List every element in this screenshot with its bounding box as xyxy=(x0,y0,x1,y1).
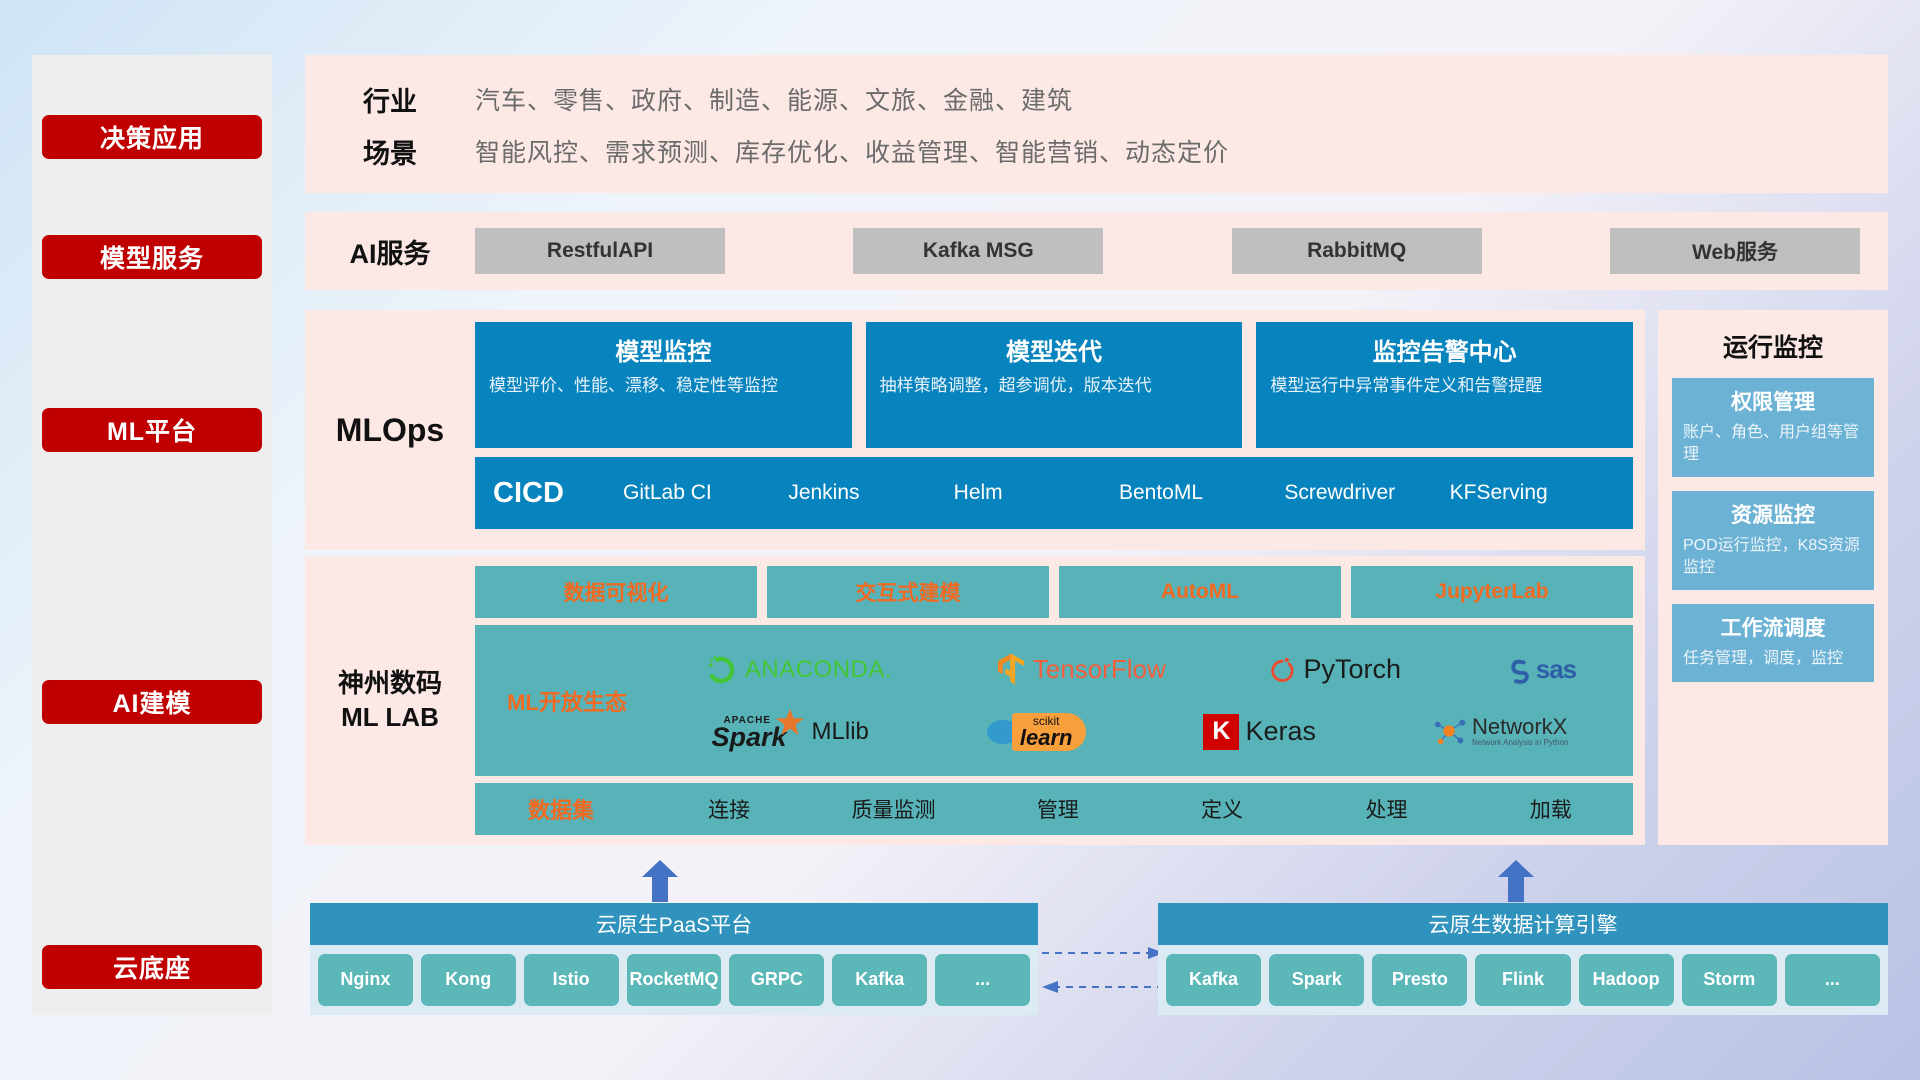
dataset-label: 数据集 xyxy=(475,793,647,825)
cicd-item-gitlab-ci[interactable]: GitLab CI xyxy=(623,481,788,505)
card-title: 监控告警中心 xyxy=(1270,332,1619,367)
networkx-subtitle: Network Analysis in Python xyxy=(1472,738,1569,747)
mlops-card-model-monitoring[interactable]: 模型监控 模型评价、性能、漂移、稳定性等监控 xyxy=(475,322,852,448)
layer-chip-label: 决策应用 xyxy=(100,119,204,155)
sas-logo[interactable]: sas xyxy=(1503,654,1576,685)
mlops-panel: MLOps 模型监控 模型评价、性能、漂移、稳定性等监控 模型迭代 抽样策略调整… xyxy=(305,310,1645,550)
learn-text: learn xyxy=(1020,727,1073,749)
mllib-text: MLlib xyxy=(812,718,869,746)
pytorch-icon xyxy=(1267,653,1297,687)
decision-application-panel: 行业 汽车、零售、政府、制造、能源、文旅、金融、建筑 场景 智能风控、需求预测、… xyxy=(305,55,1888,193)
data-chip-flink[interactable]: Flink xyxy=(1475,954,1570,1006)
networkx-logo-text: NetworkX xyxy=(1472,716,1569,738)
layer-chip-label: ML平台 xyxy=(107,412,197,448)
dataset-bar: 数据集 连接 质量监测 管理 定义 处理 加载 xyxy=(475,783,1633,835)
data-chip-more[interactable]: ... xyxy=(1785,954,1880,1006)
layer-rail xyxy=(32,55,272,1015)
tensorflow-logo[interactable]: TensorFlow xyxy=(994,652,1166,688)
keras-logo[interactable]: K Keras xyxy=(1203,714,1316,750)
layer-chip-ai-modeling[interactable]: AI建模 xyxy=(42,680,262,724)
ml-lab-label-line1: 神州数码 xyxy=(338,667,442,701)
cloud-chip-grpc[interactable]: GRPC xyxy=(729,954,824,1006)
spark-mllib-logo[interactable]: APACHE Spark MLlib xyxy=(711,715,868,749)
mlops-cards: 模型监控 模型评价、性能、漂移、稳定性等监控 模型迭代 抽样策略调整，超参调优，… xyxy=(475,322,1633,448)
cicd-label: CICD xyxy=(493,477,623,510)
card-desc: 抽样策略调整，超参调优，版本迭代 xyxy=(880,375,1229,398)
networkx-icon xyxy=(1433,716,1467,748)
cloud-native-data-engine-group: 云原生数据计算引擎 Kafka Spark Presto Flink Hadoo… xyxy=(1158,903,1888,1015)
service-box-web[interactable]: Web服务 xyxy=(1610,228,1860,274)
service-box-label: Kafka MSG xyxy=(923,239,1034,263)
card-title: 模型迭代 xyxy=(880,332,1229,367)
layer-chip-decision-app[interactable]: 决策应用 xyxy=(42,115,262,159)
cloud-chip-more[interactable]: ... xyxy=(935,954,1030,1006)
data-chip-kafka[interactable]: Kafka xyxy=(1166,954,1261,1006)
cloud-chip-kafka[interactable]: Kafka xyxy=(832,954,927,1006)
ai-service-panel: AI服务 RestfulAPI Kafka MSG RabbitMQ Web服务 xyxy=(305,212,1888,290)
cloud-chip-rocketmq[interactable]: RocketMQ xyxy=(627,954,722,1006)
bidirectional-dashed-connector xyxy=(1040,935,1166,1005)
cloud-chip-nginx[interactable]: Nginx xyxy=(318,954,413,1006)
data-chip-storm[interactable]: Storm xyxy=(1682,954,1777,1006)
data-chip-spark[interactable]: Spark xyxy=(1269,954,1364,1006)
layer-chip-cloud-base[interactable]: 云底座 xyxy=(42,945,262,989)
service-box-label: Web服务 xyxy=(1692,236,1778,266)
service-box-restfulapi[interactable]: RestfulAPI xyxy=(475,228,725,274)
pytorch-logo[interactable]: PyTorch xyxy=(1267,653,1401,687)
service-box-label: RabbitMQ xyxy=(1307,239,1406,263)
card-title: 资源监控 xyxy=(1683,499,1863,529)
dataset-item-process[interactable]: 处理 xyxy=(1304,794,1468,824)
scenario-row: 场景 智能风控、需求预测、库存优化、收益管理、智能营销、动态定价 xyxy=(305,125,1888,177)
networkx-logo[interactable]: NetworkX Network Analysis in Python xyxy=(1433,716,1569,748)
cloud-chip-istio[interactable]: Istio xyxy=(524,954,619,1006)
ml-lab-panel: 神州数码 ML LAB 数据可视化 交互式建模 AutoML JupyterLa… xyxy=(305,556,1645,845)
service-box-label: RestfulAPI xyxy=(547,239,653,263)
service-box-rabbitmq[interactable]: RabbitMQ xyxy=(1232,228,1482,274)
keras-logo-text: Keras xyxy=(1245,716,1316,747)
card-title: 权限管理 xyxy=(1683,386,1863,416)
ai-service-label: AI服务 xyxy=(305,232,475,271)
industry-label: 行业 xyxy=(305,80,475,119)
scenario-label: 场景 xyxy=(305,132,475,171)
monitor-card-resource[interactable]: 资源监控 POD运行监控，K8S资源监控 xyxy=(1672,491,1874,590)
runtime-monitoring-title: 运行监控 xyxy=(1672,328,1874,364)
cloud-native-data-engine-chips: Kafka Spark Presto Flink Hadoop Storm ..… xyxy=(1158,945,1888,1015)
up-arrow-data-engine xyxy=(1496,860,1536,900)
runtime-monitoring-panel: 运行监控 权限管理 账户、角色、用户组等管理 资源监控 POD运行监控，K8S资… xyxy=(1658,310,1888,845)
ml-lab-label-line2: ML LAB xyxy=(341,701,439,735)
card-desc: 账户、角色、用户组等管理 xyxy=(1683,422,1863,465)
lab-tool-jupyterlab[interactable]: JupyterLab xyxy=(1351,566,1633,618)
dataset-item-connect[interactable]: 连接 xyxy=(647,794,811,824)
anaconda-icon xyxy=(704,653,738,687)
data-chip-hadoop[interactable]: Hadoop xyxy=(1579,954,1674,1006)
cloud-native-paas-title: 云原生PaaS平台 xyxy=(310,903,1038,945)
cloud-native-paas-chips: Nginx Kong Istio RocketMQ GRPC Kafka ... xyxy=(310,945,1038,1015)
ecosystem-logo-row-1: ANACONDA. TensorFlow xyxy=(653,642,1627,698)
cicd-item-jenkins[interactable]: Jenkins xyxy=(788,481,953,505)
lab-tool-interactive-modeling[interactable]: 交互式建模 xyxy=(767,566,1049,618)
dataset-item-load[interactable]: 加载 xyxy=(1469,794,1633,824)
tensorflow-icon xyxy=(994,652,1028,688)
dataset-item-quality-monitoring[interactable]: 质量监测 xyxy=(811,794,975,824)
card-title: 工作流调度 xyxy=(1683,612,1863,642)
cicd-item-screwdriver[interactable]: Screwdriver xyxy=(1284,481,1449,505)
layer-chip-ml-platform[interactable]: ML平台 xyxy=(42,408,262,452)
cloud-native-paas-group: 云原生PaaS平台 Nginx Kong Istio RocketMQ GRPC… xyxy=(310,903,1038,1015)
ml-open-ecosystem-label: ML开放生态 xyxy=(481,685,653,717)
mlops-label: MLOps xyxy=(305,310,475,550)
mlops-card-model-iteration[interactable]: 模型迭代 抽样策略调整，超参调优，版本迭代 xyxy=(866,322,1243,448)
card-desc: POD运行监控，K8S资源监控 xyxy=(1683,535,1863,578)
anaconda-logo[interactable]: ANACONDA. xyxy=(704,653,892,687)
spark-star-icon xyxy=(775,707,805,737)
ecosystem-logo-row-2: APACHE Spark MLlib xyxy=(653,704,1627,760)
layer-chip-model-service[interactable]: 模型服务 xyxy=(42,235,262,279)
up-arrow-paas xyxy=(640,860,680,900)
data-chip-presto[interactable]: Presto xyxy=(1372,954,1467,1006)
card-desc: 任务管理，调度，监控 xyxy=(1683,648,1863,670)
card-desc: 模型运行中异常事件定义和告警提醒 xyxy=(1270,375,1619,398)
ml-open-ecosystem: ML开放生态 ANACONDA. xyxy=(475,625,1633,776)
dataset-item-manage[interactable]: 管理 xyxy=(976,794,1140,824)
anaconda-logo-text: ANACONDA. xyxy=(745,656,892,684)
lab-tool-automl[interactable]: AutoML xyxy=(1059,566,1341,618)
card-desc: 模型评价、性能、漂移、稳定性等监控 xyxy=(489,375,838,398)
diagram-canvas: 决策应用 模型服务 ML平台 AI建模 云底座 行业 汽车、零售、政府、制造、能… xyxy=(0,0,1920,1080)
tensorflow-logo-text: TensorFlow xyxy=(1033,654,1166,685)
pytorch-logo-text: PyTorch xyxy=(1303,654,1401,685)
ai-service-items: RestfulAPI Kafka MSG RabbitMQ Web服务 xyxy=(475,228,1888,274)
keras-icon: K xyxy=(1203,714,1239,750)
monitor-card-permission[interactable]: 权限管理 账户、角色、用户组等管理 xyxy=(1672,378,1874,477)
cicd-item-helm[interactable]: Helm xyxy=(954,481,1119,505)
mlops-card-alert-center[interactable]: 监控告警中心 模型运行中异常事件定义和告警提醒 xyxy=(1256,322,1633,448)
monitor-card-workflow[interactable]: 工作流调度 任务管理，调度，监控 xyxy=(1672,604,1874,682)
scenario-values: 智能风控、需求预测、库存优化、收益管理、智能营销、动态定价 xyxy=(475,133,1229,169)
lab-tool-data-visualization[interactable]: 数据可视化 xyxy=(475,566,757,618)
layer-chip-label: 云底座 xyxy=(113,949,191,985)
scikit-learn-logo[interactable]: scikit learn xyxy=(986,713,1087,751)
cicd-bar: CICD GitLab CI Jenkins Helm BentoML Scre… xyxy=(475,457,1633,529)
sas-logo-text: sas xyxy=(1536,654,1576,685)
service-box-kafka-msg[interactable]: Kafka MSG xyxy=(853,228,1103,274)
ml-lab-label: 神州数码 ML LAB xyxy=(305,556,475,845)
ml-lab-tools: 数据可视化 交互式建模 AutoML JupyterLab xyxy=(475,566,1633,618)
cicd-item-kfserving[interactable]: KFServing xyxy=(1450,481,1615,505)
cloud-native-data-engine-title: 云原生数据计算引擎 xyxy=(1158,903,1888,945)
cloud-chip-kong[interactable]: Kong xyxy=(421,954,516,1006)
dataset-item-define[interactable]: 定义 xyxy=(1140,794,1304,824)
cicd-item-bentoml[interactable]: BentoML xyxy=(1119,481,1284,505)
card-title: 模型监控 xyxy=(489,332,838,367)
sas-icon xyxy=(1503,655,1533,685)
layer-chip-label: 模型服务 xyxy=(100,239,204,275)
industry-row: 行业 汽车、零售、政府、制造、能源、文旅、金融、建筑 xyxy=(305,73,1888,125)
layer-chip-label: AI建模 xyxy=(112,684,191,720)
industry-values: 汽车、零售、政府、制造、能源、文旅、金融、建筑 xyxy=(475,81,1073,117)
